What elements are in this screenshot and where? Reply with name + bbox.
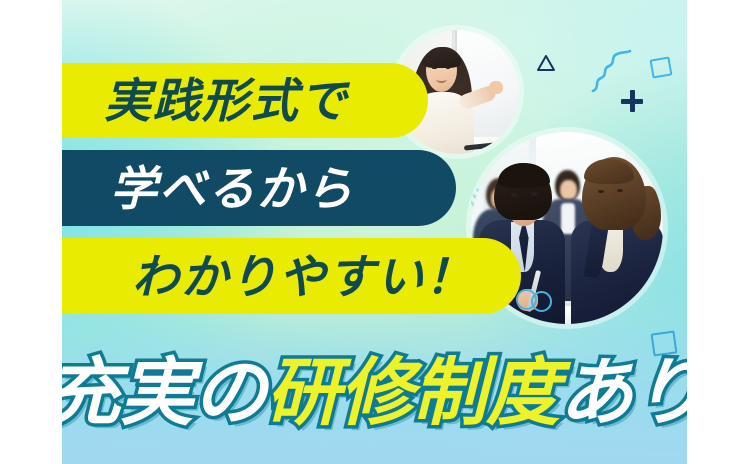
tagline-bar-1-text: 実践形式で: [104, 77, 348, 124]
tagline-bar-3: わかりやすい！: [62, 238, 521, 314]
headline-segment-1: 充実の: [62, 356, 266, 430]
tagline-bar-2-text: 学べるから: [110, 165, 354, 212]
square-outline-icon: [650, 56, 673, 78]
headline: 充実の 研修制度 あり: [76, 345, 676, 440]
tagline-bar-3-text: わかりやすい！: [132, 253, 474, 300]
squiggle-icon: [590, 48, 642, 94]
plus-icon: [621, 90, 643, 112]
training-promo-banner: 実践形式で 学べるから わかりやすい！ 充実の 研修制度 あり: [62, 0, 687, 464]
overlapping-rings-icon: [516, 288, 558, 312]
headline-segment-2: 研修制度: [266, 356, 559, 430]
tagline-bar-2: 学べるから: [62, 150, 456, 226]
headline-segment-3: あり: [559, 356, 687, 430]
tagline-bar-1: 実践形式で: [62, 63, 428, 138]
triangle-outline-icon: [536, 54, 556, 72]
